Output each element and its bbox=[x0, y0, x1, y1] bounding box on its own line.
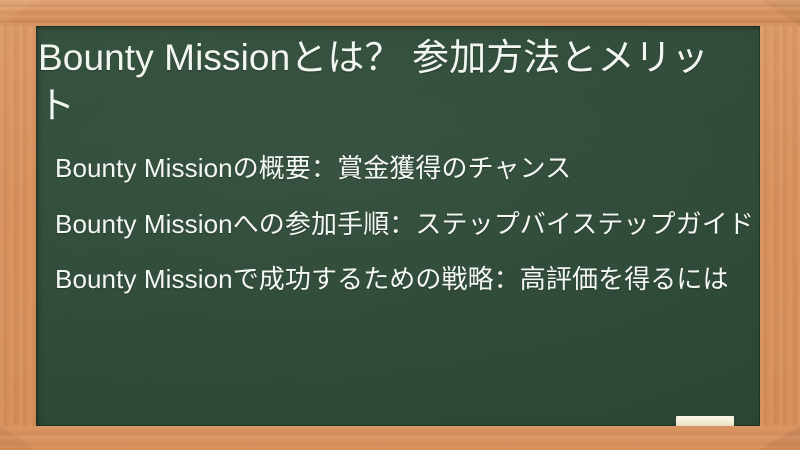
frame-rail-top bbox=[0, 0, 800, 26]
frame-corner-bottom-left bbox=[0, 426, 36, 450]
frame-corner-top-left bbox=[0, 0, 36, 26]
heading-list: Bounty Missionの概要：賞金獲得のチャンス Bounty Missi… bbox=[55, 150, 755, 299]
chalk-stick-icon bbox=[676, 416, 734, 426]
chalkboard-content: Bounty Missionとは？ 参加方法とメリット Bounty Missi… bbox=[36, 26, 760, 426]
blackboard-frame: Bounty Missionとは？ 参加方法とメリット Bounty Missi… bbox=[0, 0, 800, 450]
frame-corner-top-right bbox=[760, 0, 800, 26]
list-item: Bounty Missionへの参加手順：ステップバイステップガイド bbox=[55, 206, 755, 244]
list-item: Bounty Missionで成功するための戦略：高評価を得るには bbox=[55, 261, 755, 299]
frame-corner-bottom-right bbox=[760, 426, 800, 450]
list-item: Bounty Missionの概要：賞金獲得のチャンス bbox=[55, 150, 755, 188]
page-title: Bounty Missionとは？ 参加方法とメリット bbox=[38, 34, 738, 130]
frame-rail-bottom bbox=[0, 426, 800, 450]
chalkboard-surface: Bounty Missionとは？ 参加方法とメリット Bounty Missi… bbox=[36, 26, 760, 426]
